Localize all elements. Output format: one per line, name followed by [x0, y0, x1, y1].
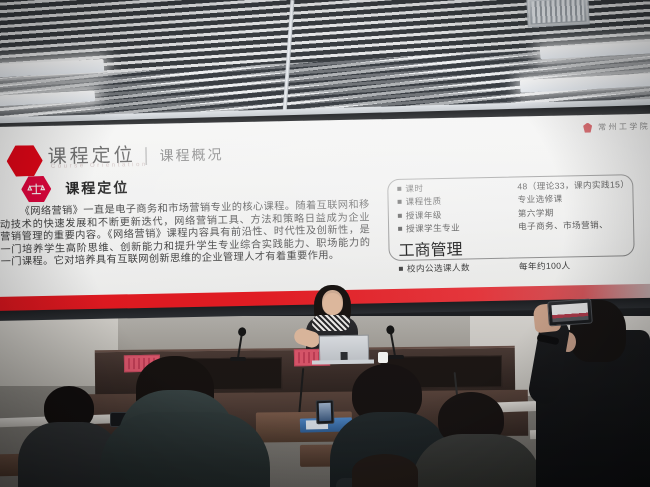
info-label: 授课年级: [406, 207, 518, 222]
info-value: 每年约100人: [519, 258, 631, 273]
presenter-scarf: [312, 315, 350, 331]
university-logo: 常州工学院: [583, 121, 650, 133]
info-value: 专业选修课: [517, 192, 629, 207]
info-label: 授课学生专业: [406, 221, 518, 236]
section-heading: 课程定位: [65, 177, 129, 198]
microphone-base: [230, 357, 246, 361]
audience-head: [352, 454, 418, 487]
lecture-hall-photo: 课程定位|课程概况 Course Orientation 课程定位 《网络营销》…: [0, 0, 650, 487]
info-label: 课时: [405, 180, 517, 195]
info-value: 电子商务、市场营销、: [518, 218, 630, 233]
hexagon-accent-icon: [6, 145, 43, 177]
info-value: 第六学期: [518, 205, 630, 220]
water-cup: [378, 352, 388, 363]
presenter-face: [323, 293, 342, 315]
list-item: 校内公选课人数 每年约100人: [399, 258, 631, 275]
info-value-continuation: 工商管理: [398, 232, 630, 261]
audience-body: [100, 412, 270, 487]
slide-title-english: Course Orientation: [51, 162, 148, 170]
bullet-square-icon: [398, 227, 402, 231]
info-label: 课程性质: [405, 194, 517, 209]
phone-on-desk: [316, 400, 335, 425]
air-vent-icon: [526, 0, 589, 28]
bullet-square-icon: [398, 214, 402, 218]
presentation-slide: 课程定位|课程概况 Course Orientation 课程定位 《网络营销》…: [0, 114, 650, 303]
bullet-square-icon: [399, 266, 403, 270]
balance-scale-hexagon-icon: [21, 176, 52, 203]
bullet-square-icon: [398, 200, 402, 204]
slide-title-subtitle: 课程概况: [159, 146, 223, 163]
course-info-list: 课时 48（理论33，课内实践15） 课程性质 专业选修课 授课年级 第六学期 …: [397, 178, 631, 276]
slide-body-paragraph: 《网络营销》一直是电子商务和市场营销专业的核心课程。随着互联网和移动技术的快速发…: [0, 199, 371, 269]
university-crest-icon: [583, 122, 592, 132]
phone-camera-icon: [547, 298, 593, 326]
bullet-square-icon: [397, 187, 401, 191]
university-name: 常州工学院: [598, 121, 650, 133]
info-label: 校内公选课人数: [407, 260, 519, 275]
info-value: 48（理论33，课内实践15）: [517, 178, 629, 193]
microphone-base: [388, 355, 404, 359]
